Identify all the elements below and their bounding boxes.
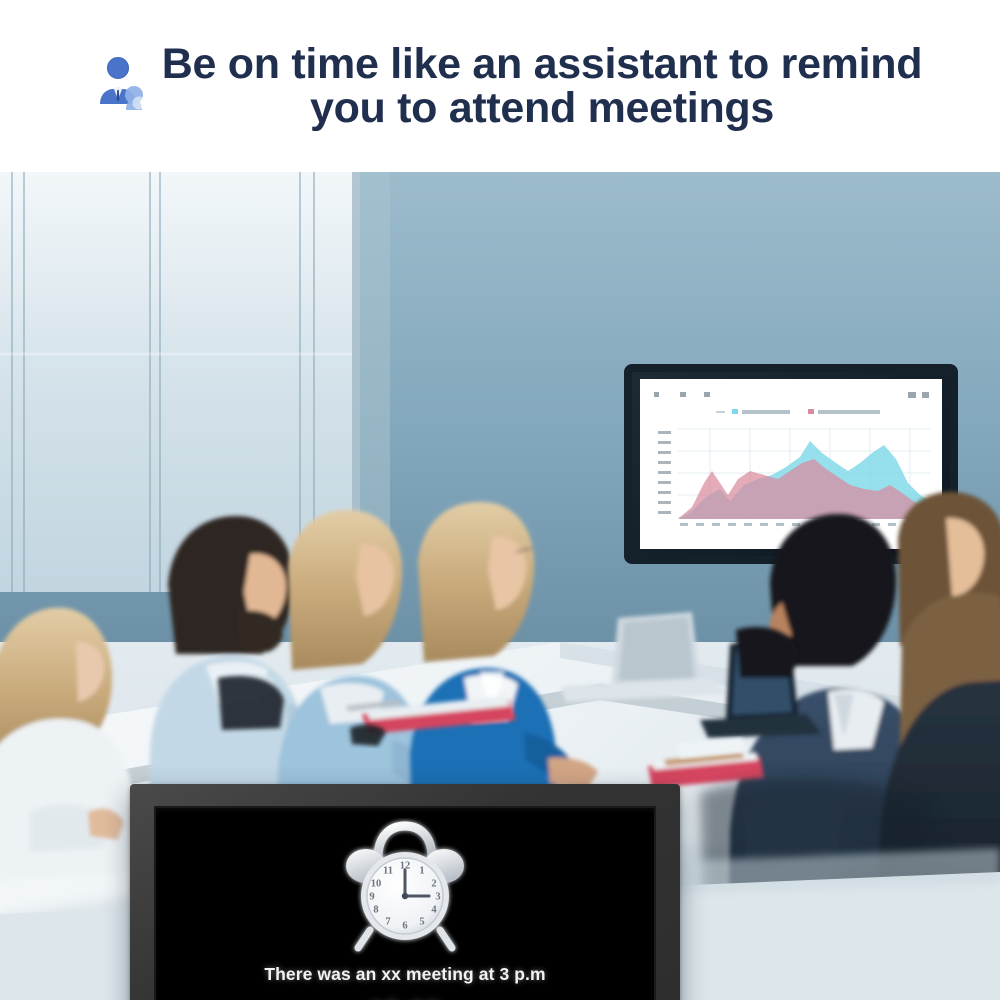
svg-text:7: 7 <box>385 917 390 928</box>
svg-text:3: 3 <box>435 892 440 903</box>
svg-text:10: 10 <box>371 879 382 890</box>
header-banner: Be on time like an assistant to remind y… <box>0 0 1000 172</box>
alarm-message: There was an xx meeting at 3 p.m <box>264 964 545 985</box>
page-title-line-1: Be on time like an assistant to remind <box>162 40 922 88</box>
header-banner-inner: Be on time like an assistant to remind y… <box>78 42 922 131</box>
svg-text:9: 9 <box>369 892 374 903</box>
svg-text:5: 5 <box>419 917 424 928</box>
svg-text:6: 6 <box>402 921 407 932</box>
svg-text:8: 8 <box>373 905 378 916</box>
page-title: Be on time like an assistant to remind y… <box>162 42 922 131</box>
svg-text:1: 1 <box>419 866 424 877</box>
businessperson-avatar-icon <box>90 56 148 116</box>
digital-photo-frame-alarm[interactable]: 12 1 2 3 4 5 6 7 8 9 10 11 <box>130 784 680 1000</box>
svg-text:4: 4 <box>431 905 437 916</box>
page-title-line-2: you to attend meetings <box>162 86 922 130</box>
svg-text:2: 2 <box>431 879 436 890</box>
alarm-clock-icon: 12 1 2 3 4 5 6 7 8 9 10 11 <box>330 818 480 958</box>
device-screen[interactable]: 12 1 2 3 4 5 6 7 8 9 10 11 <box>154 806 656 1000</box>
conference-room-photo: 12 1 2 3 4 5 6 7 8 9 10 11 <box>0 172 1000 1000</box>
svg-text:11: 11 <box>383 866 393 877</box>
